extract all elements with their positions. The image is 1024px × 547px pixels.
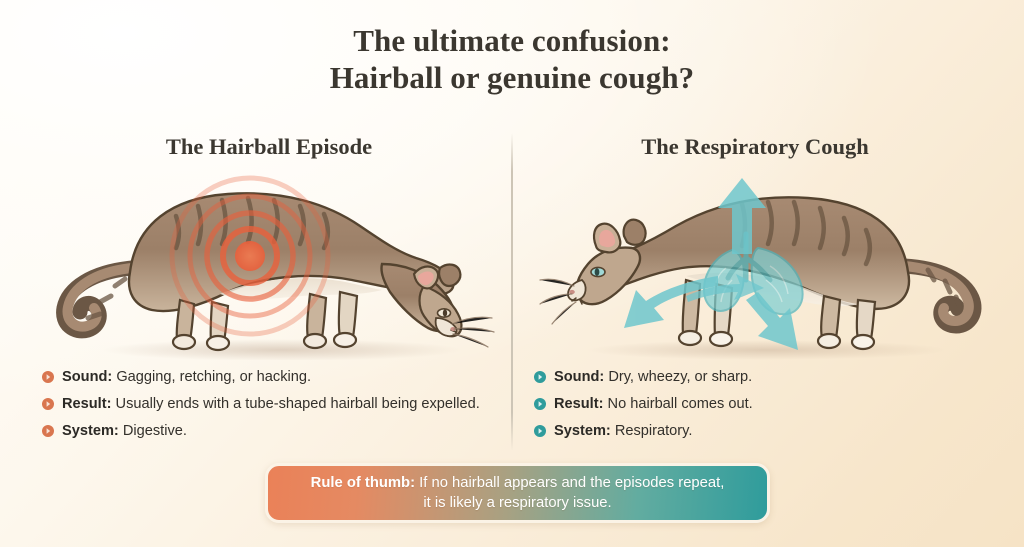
- list-item-text: System: Respiratory.: [554, 422, 692, 440]
- chevron-circle-icon: [42, 371, 54, 383]
- list-item: Result: No hairball comes out.: [534, 395, 994, 413]
- title-line-2: Hairball or genuine cough?: [0, 59, 1024, 96]
- rule-of-thumb-line-2: it is likely a respiratory issue.: [423, 495, 611, 511]
- list-item: System: Respiratory.: [534, 422, 994, 440]
- list-item-value: Gagging, retching, or hacking.: [112, 369, 311, 385]
- ground-shadow: [586, 340, 946, 360]
- rule-of-thumb-text: Rule of thumb: If no hairball appears an…: [295, 473, 741, 513]
- rule-of-thumb-line-1: If no hairball appears and the episodes …: [415, 475, 724, 491]
- list-item-value: Digestive.: [119, 423, 187, 439]
- respiratory-bullet-list: Sound: Dry, wheezy, or sharp. Result: No…: [534, 368, 994, 449]
- column-heading-hairball: The Hairball Episode: [34, 134, 504, 160]
- hairball-bullet-list: Sound: Gagging, retching, or hacking. Re…: [42, 368, 502, 449]
- list-item-label: System:: [62, 423, 119, 439]
- chevron-circle-icon: [534, 425, 546, 437]
- list-item-text: System: Digestive.: [62, 422, 187, 440]
- chevron-circle-icon: [42, 398, 54, 410]
- ground-shadow: [102, 339, 462, 360]
- chevron-circle-icon: [534, 371, 546, 383]
- column-divider: [511, 133, 513, 451]
- list-item: Sound: Gagging, retching, or hacking.: [42, 368, 502, 386]
- list-item-value: Respiratory.: [611, 423, 693, 439]
- respiratory-cat-illustration: [536, 168, 988, 360]
- infographic-canvas: The ultimate confusion: Hairball or genu…: [0, 0, 1024, 547]
- list-item-label: Sound:: [554, 369, 604, 385]
- page-title: The ultimate confusion: Hairball or genu…: [0, 22, 1024, 96]
- list-item-text: Result: No hairball comes out.: [554, 395, 753, 413]
- sound-ring-core: [235, 241, 265, 271]
- list-item-value: Dry, wheezy, or sharp.: [604, 369, 752, 385]
- list-item: Sound: Dry, wheezy, or sharp.: [534, 368, 994, 386]
- rule-of-thumb-label: Rule of thumb:: [311, 475, 415, 491]
- list-item-text: Result: Usually ends with a tube-shaped …: [62, 395, 480, 413]
- list-item-label: Sound:: [62, 369, 112, 385]
- list-item: System: Digestive.: [42, 422, 502, 440]
- title-line-1: The ultimate confusion:: [0, 22, 1024, 59]
- list-item: Result: Usually ends with a tube-shaped …: [42, 395, 502, 413]
- cat-head: [576, 248, 640, 305]
- column-heading-respiratory: The Respiratory Cough: [520, 134, 990, 160]
- list-item-label: System:: [554, 423, 611, 439]
- list-item-value: Usually ends with a tube-shaped hairball…: [111, 396, 479, 412]
- chevron-circle-icon: [534, 398, 546, 410]
- list-item-text: Sound: Gagging, retching, or hacking.: [62, 368, 311, 386]
- rule-of-thumb-banner: Rule of thumb: If no hairball appears an…: [265, 463, 770, 523]
- list-item-value: No hairball comes out.: [603, 396, 752, 412]
- chevron-circle-icon: [42, 425, 54, 437]
- list-item-label: Result:: [62, 396, 111, 412]
- hairball-cat-illustration: [52, 168, 504, 360]
- list-item-text: Sound: Dry, wheezy, or sharp.: [554, 368, 752, 386]
- list-item-label: Result:: [554, 396, 603, 412]
